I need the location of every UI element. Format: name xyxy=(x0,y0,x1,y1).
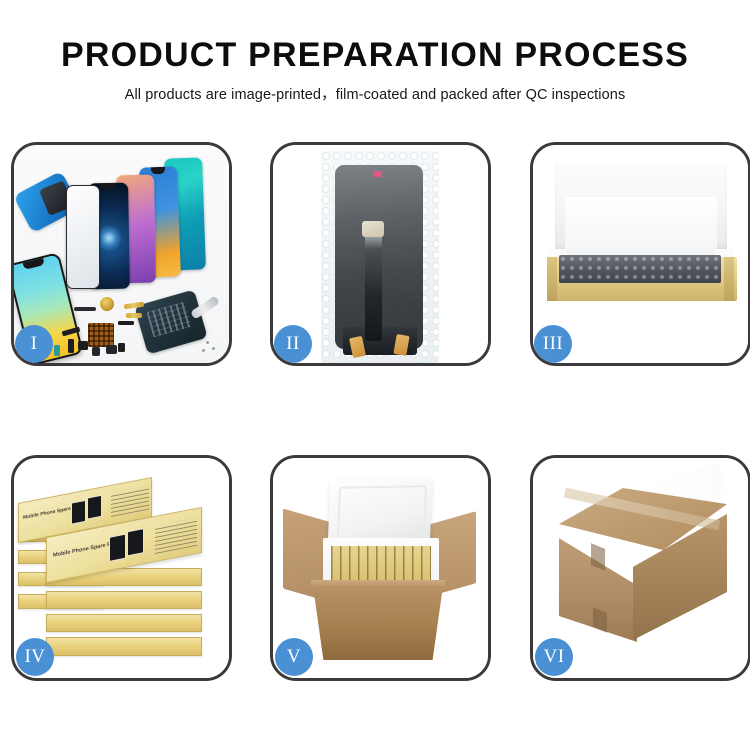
shipping-carton-open xyxy=(313,586,443,660)
bubble-wrap-bag xyxy=(321,151,439,363)
spare-part-coil xyxy=(100,297,114,311)
step-panel-4[interactable]: Mobile Phone Spare Parts Mobile Phone Sp… xyxy=(11,455,232,681)
spare-part-camera xyxy=(106,345,117,354)
step-badge-1: I xyxy=(15,325,53,363)
page-subtitle: All products are image-printed，film-coat… xyxy=(0,74,750,104)
step-panel-1[interactable]: I xyxy=(11,142,232,366)
step-panel-3[interactable]: III xyxy=(530,142,750,366)
spare-part-vibrator xyxy=(118,343,125,352)
step-panel-2[interactable]: II xyxy=(270,142,491,366)
box-flap-left xyxy=(547,257,557,301)
screw-2 xyxy=(212,347,215,350)
step-panel-6[interactable]: VI xyxy=(530,455,750,681)
page-title: PRODUCT PREPARATION PROCESS xyxy=(0,0,750,74)
box-flap-right xyxy=(724,257,734,301)
screw-3 xyxy=(202,349,205,352)
box-lid-screen-a2 xyxy=(87,495,102,520)
foam-sheet xyxy=(565,197,717,263)
spare-part-sim-tray xyxy=(54,345,60,356)
stacked-box-f3 xyxy=(46,614,202,632)
spare-part-speaker-mesh xyxy=(74,307,96,311)
screen-connector xyxy=(362,221,384,237)
screen-flex-cable xyxy=(365,229,382,341)
pink-qc-sticker xyxy=(373,171,382,177)
spare-part-cable-3 xyxy=(118,321,134,325)
styrofoam-lid xyxy=(328,477,432,547)
step-panel-5[interactable]: V xyxy=(270,455,491,681)
step-badge-5: V xyxy=(275,638,313,676)
phone-screen-glass xyxy=(66,185,100,289)
carton-tape-patch-bottom xyxy=(593,607,607,633)
spare-part-chip-2 xyxy=(78,341,88,350)
step-badge-2: II xyxy=(274,325,312,363)
phone-motherboard-part xyxy=(134,289,207,354)
page-header: PRODUCT PREPARATION PROCESS All products… xyxy=(0,0,750,104)
stacked-box-f4 xyxy=(46,637,202,656)
box-lid-screen-b1 xyxy=(109,534,126,562)
spare-part-screw-grid xyxy=(88,323,114,347)
spare-part-flex-cable-2 xyxy=(126,313,142,318)
box-lid-screen-b2 xyxy=(127,528,144,556)
box-lid-screen-a1 xyxy=(71,500,86,525)
box-lid-spec-lines-back xyxy=(111,486,149,517)
bubble-wrapped-contents xyxy=(559,255,721,283)
screw-1 xyxy=(206,341,209,344)
process-step-grid: I II III xyxy=(11,142,749,682)
step-badge-6: VI xyxy=(535,638,573,676)
step-badge-4: IV xyxy=(16,638,54,676)
spare-part-chip-1 xyxy=(68,339,74,353)
stacked-box-f2 xyxy=(46,591,202,609)
step-badge-3: III xyxy=(534,325,572,363)
spare-part-button xyxy=(92,347,100,356)
box-lid-spec-lines-front xyxy=(155,518,197,554)
